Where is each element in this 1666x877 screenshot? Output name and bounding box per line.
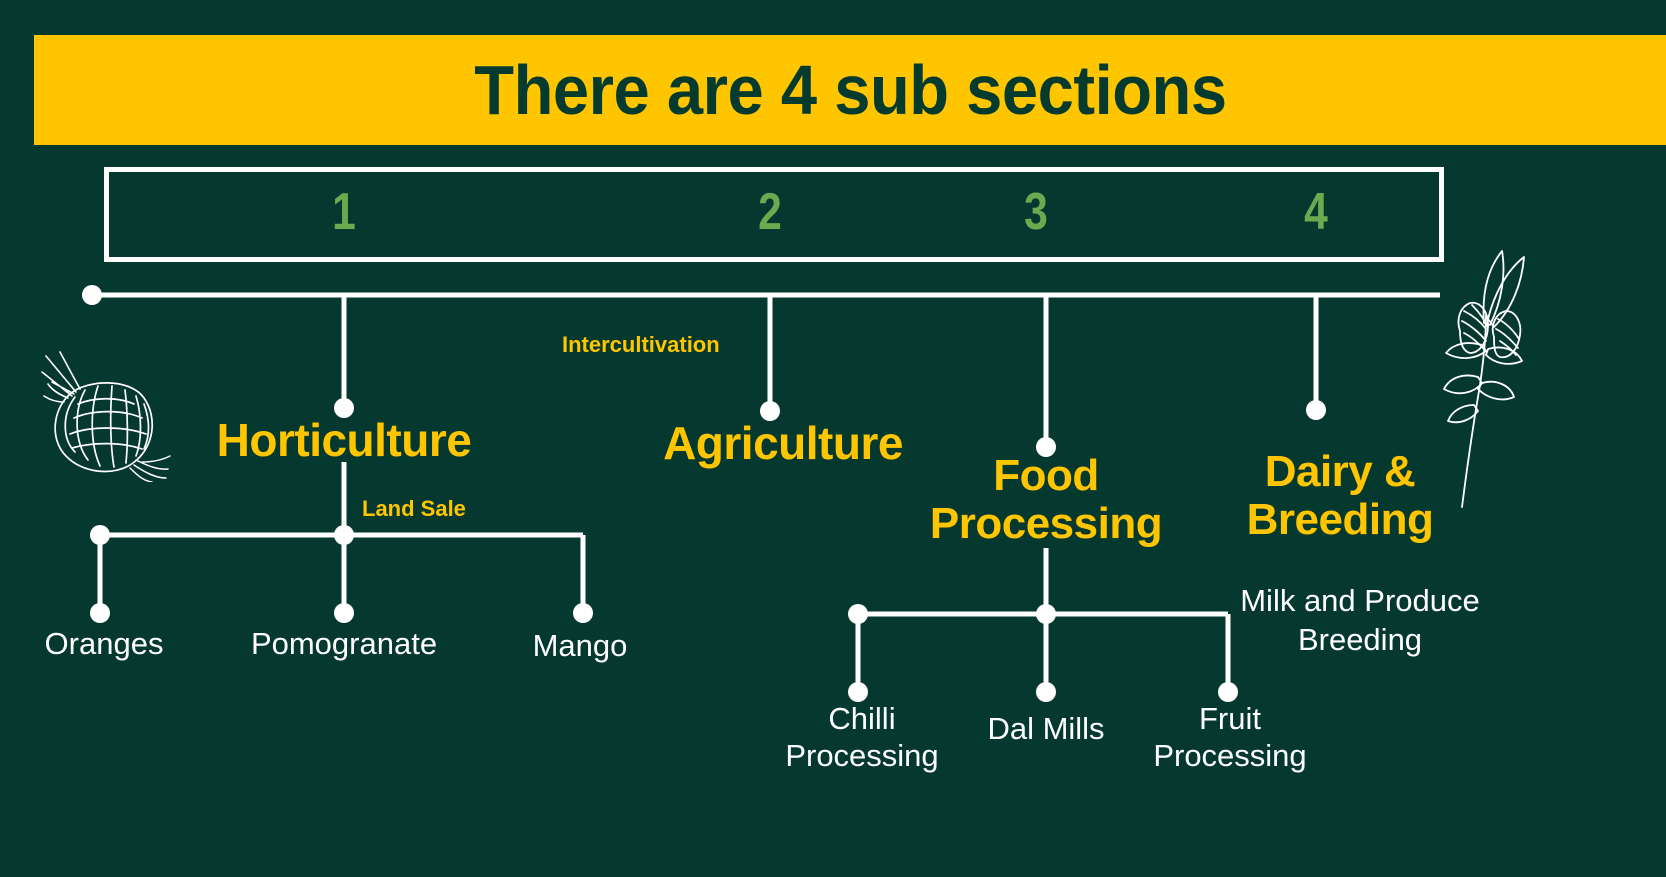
leaf-label-chilli-processing-line1: Chilli — [828, 701, 895, 736]
corn-plant-sketch — [1420, 245, 1540, 510]
leaf-label-milk-produce-breeding: Milk and Produce Breeding — [1240, 582, 1480, 660]
category-label-food-processing-line2: Processing — [930, 499, 1162, 548]
category-label-dairy-breeding-line2: Breeding — [1247, 495, 1434, 544]
leaf-label-chilli-processing-line2: Processing — [785, 738, 938, 773]
leaf-label-pomogranate: Pomogranate — [251, 626, 437, 663]
infographic-canvas: There are 4 sub sections 1 2 3 4 — [0, 0, 1666, 877]
leaf-label-oranges: Oranges — [45, 626, 164, 663]
leaf-label-fruit-processing-line1: Fruit — [1199, 701, 1261, 736]
node-dalmills — [1036, 682, 1056, 702]
leaf-label-mango: Mango — [533, 628, 628, 665]
node-branch-4 — [1306, 400, 1326, 420]
leaf-label-fruit-processing-line2: Processing — [1153, 738, 1306, 773]
leaf-label-chilli-processing: Chilli Processing — [747, 701, 977, 774]
edge-label-intercultivation: Intercultivation — [562, 332, 720, 358]
node-mango — [573, 603, 593, 623]
category-label-horticulture: Horticulture — [217, 416, 472, 466]
node-oranges — [90, 603, 110, 623]
node-rail-start — [82, 285, 102, 305]
category-label-food-processing: Food Processing — [886, 452, 1206, 547]
onion-sketch — [30, 332, 180, 482]
node-horticulture-left — [90, 525, 110, 545]
leaf-label-dal-mills: Dal Mills — [987, 711, 1104, 748]
node-foodprocessing-left — [848, 604, 868, 624]
node-pomogranate — [334, 603, 354, 623]
edge-label-land-sale: Land Sale — [362, 496, 466, 522]
node-horticulture-hub — [334, 525, 354, 545]
category-label-dairy-breeding-line1: Dairy & — [1265, 447, 1416, 496]
node-fruit — [1218, 682, 1238, 702]
node-foodprocessing-hub — [1036, 604, 1056, 624]
category-label-food-processing-line1: Food — [993, 451, 1099, 500]
node-chilli — [848, 682, 868, 702]
category-label-agriculture: Agriculture — [663, 419, 903, 469]
leaf-label-fruit-processing: Fruit Processing — [1115, 701, 1345, 774]
